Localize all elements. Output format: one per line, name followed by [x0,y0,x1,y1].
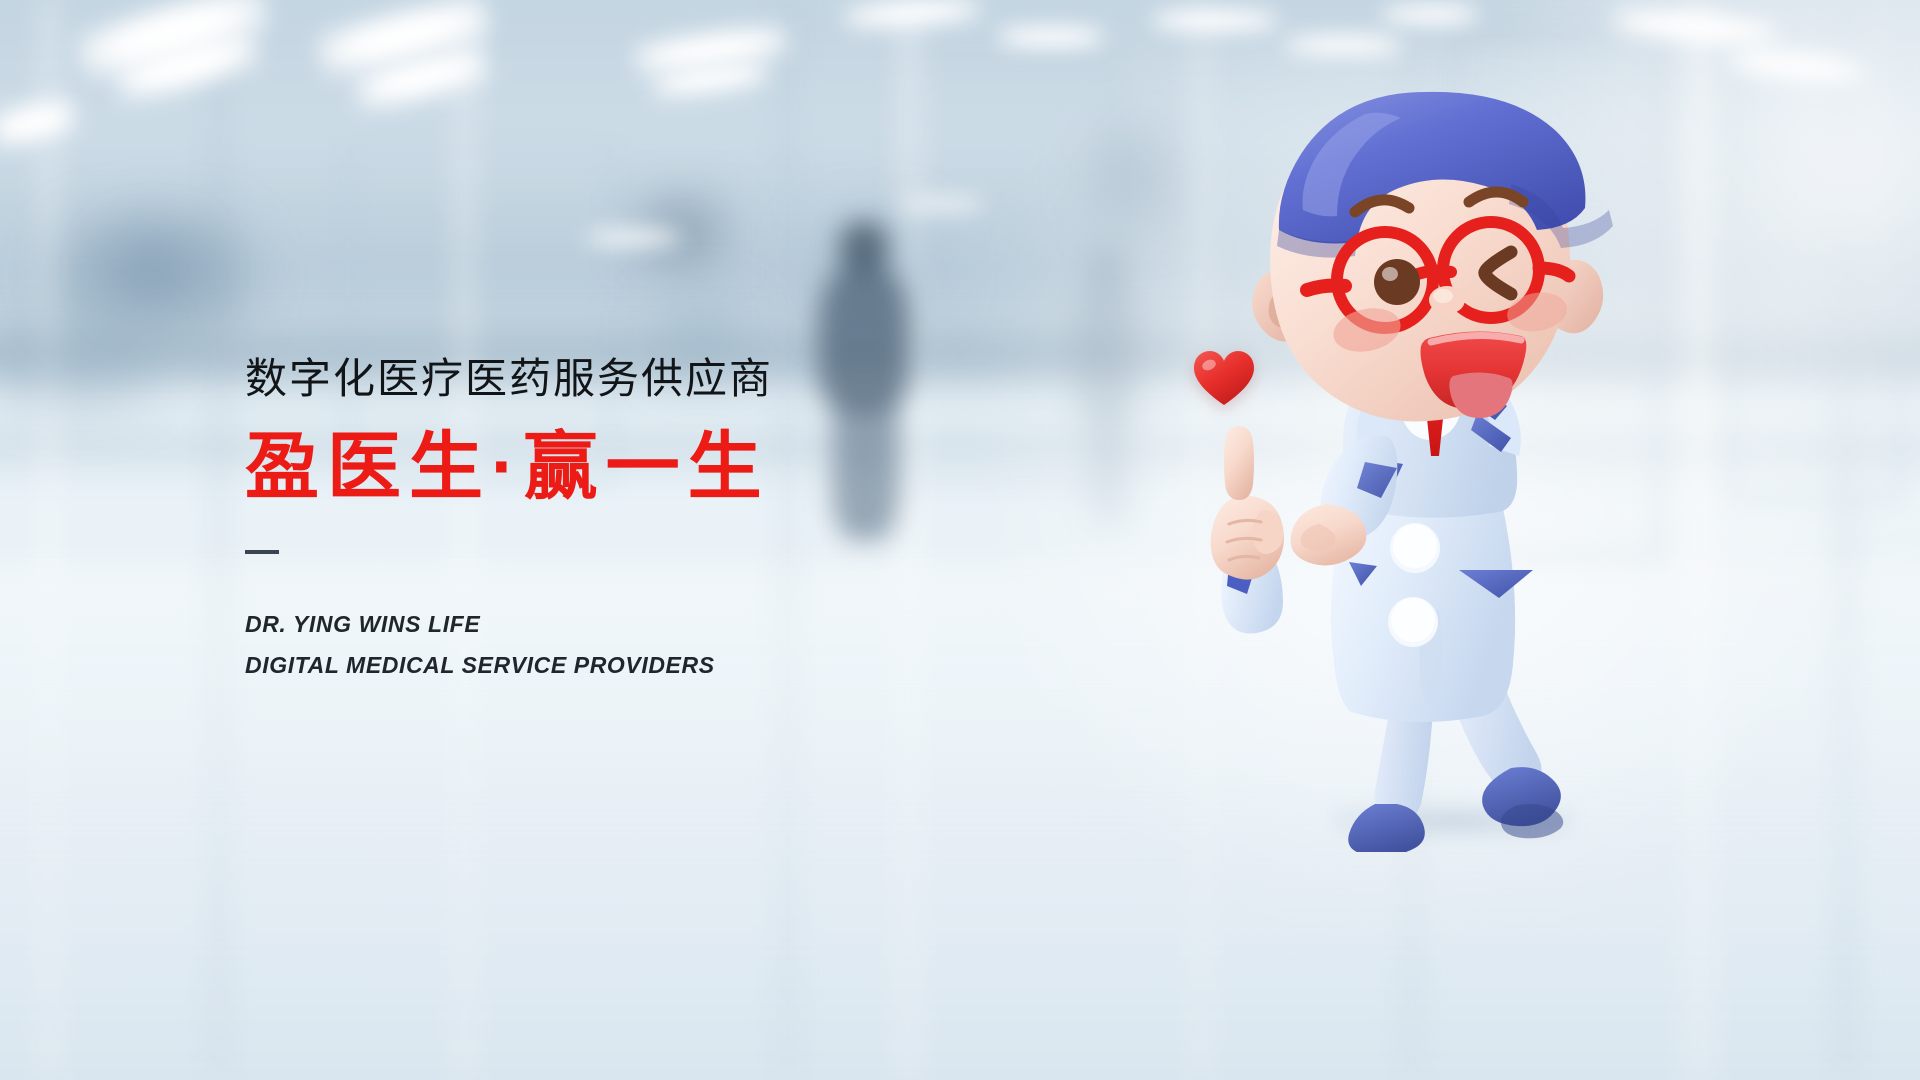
mascot-head [1215,62,1645,492]
hero-banner: 数字化医疗医药服务供应商 盈医生·赢一生 DR. YING WINS LIFE … [0,0,1920,1080]
subtitle-block: DR. YING WINS LIFE DIGITAL MEDICAL SERVI… [245,604,1005,685]
subtitle-line-2: DIGITAL MEDICAL SERVICE PROVIDERS [245,645,1005,685]
hero-copy-block: 数字化医疗医药服务供应商 盈医生·赢一生 DR. YING WINS LIFE … [245,355,1005,685]
mascot-nose-highlight [1433,289,1453,303]
mascot-back-leg [1348,702,1433,852]
cartoon-doctor-mascot [1215,62,1645,852]
divider-rule [245,550,279,554]
mascot-eye-open [1374,259,1420,305]
mascot-eye-glint [1382,267,1398,281]
eyebrow-tagline: 数字化医疗医药服务供应商 [245,355,1005,402]
page-title: 盈医生·赢一生 [245,428,1005,506]
subtitle-line-1: DR. YING WINS LIFE [245,604,1005,644]
mascot-coat-button-highlight [1393,524,1437,568]
mascot-coat-button-highlight [1391,598,1435,642]
